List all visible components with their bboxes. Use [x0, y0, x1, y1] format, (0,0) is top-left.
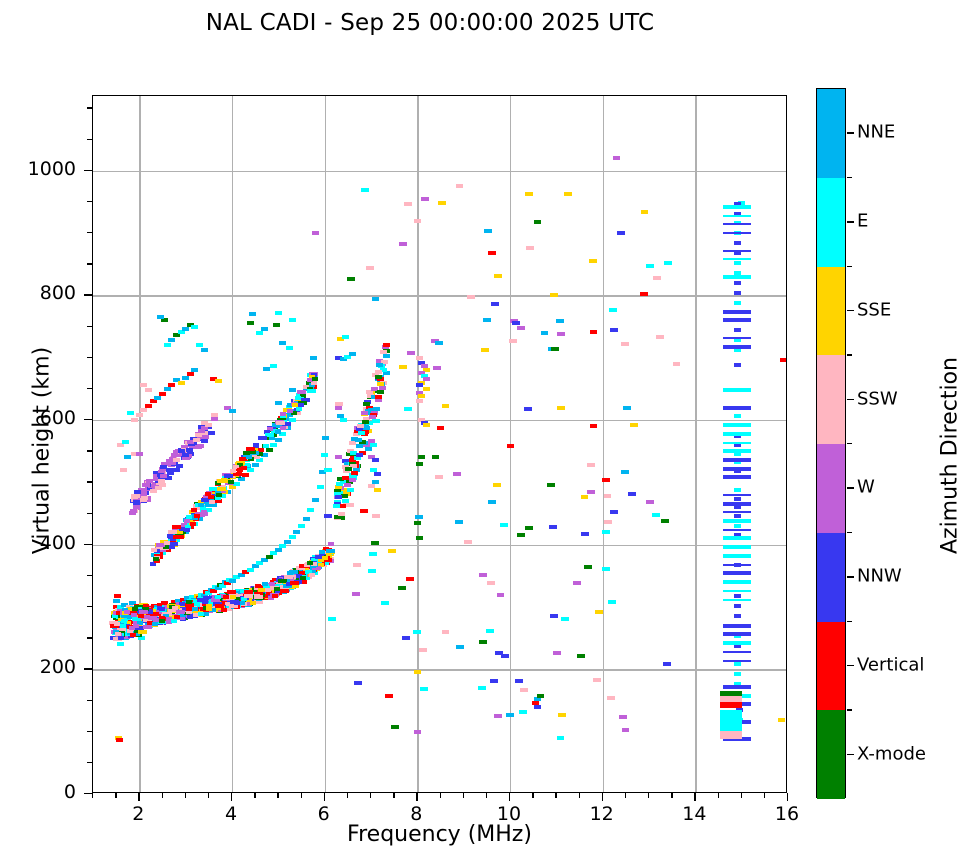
y-tick-minor — [87, 201, 92, 202]
data-point — [421, 197, 429, 201]
data-point — [138, 630, 147, 634]
data-point — [561, 617, 569, 621]
colorbar-tick — [847, 576, 854, 577]
data-point — [276, 421, 285, 425]
data-point — [723, 641, 751, 645]
data-point — [734, 363, 741, 367]
x-tick-major — [694, 793, 695, 801]
data-point — [208, 431, 215, 435]
data-point — [159, 619, 165, 623]
y-tick-major — [84, 294, 92, 295]
data-point — [734, 488, 741, 492]
data-point — [734, 505, 741, 509]
x-tick-minor — [579, 793, 580, 798]
data-point — [205, 423, 212, 427]
colorbar-segment-vertical — [817, 622, 845, 711]
data-point — [209, 500, 215, 504]
data-point — [124, 455, 131, 459]
data-point — [187, 372, 194, 376]
data-point — [622, 728, 629, 732]
data-point — [418, 455, 425, 459]
x-tick-major — [787, 793, 788, 801]
data-point — [371, 541, 379, 545]
gridline-horizontal — [93, 171, 786, 172]
data-point — [734, 338, 741, 342]
x-tick-major — [416, 793, 417, 801]
y-tick-major — [84, 793, 92, 794]
gridline-horizontal — [93, 420, 786, 421]
data-point — [432, 455, 439, 459]
data-point — [250, 601, 256, 605]
data-point — [216, 493, 222, 497]
data-point — [723, 624, 751, 628]
data-point — [437, 426, 444, 430]
colorbar-segment-w — [817, 444, 845, 533]
data-point — [442, 630, 449, 634]
data-point — [646, 500, 654, 504]
data-point — [191, 368, 198, 372]
data-point — [230, 469, 236, 473]
data-point — [587, 463, 595, 467]
data-point — [608, 600, 616, 604]
data-point — [372, 419, 380, 423]
data-point — [113, 599, 120, 603]
data-point — [549, 525, 557, 529]
data-point — [130, 633, 136, 637]
x-tick-minor — [162, 793, 163, 798]
data-point — [734, 348, 741, 352]
data-point — [351, 471, 358, 475]
data-point — [653, 276, 661, 280]
y-tick-minor — [87, 450, 92, 451]
y-tick-label: 200 — [6, 656, 76, 678]
data-point — [478, 686, 486, 690]
data-point — [140, 490, 147, 494]
data-point — [256, 331, 263, 335]
data-point — [182, 376, 189, 380]
gridline-vertical — [139, 96, 140, 792]
data-point — [494, 274, 502, 278]
data-point — [345, 467, 352, 471]
data-point — [723, 685, 751, 689]
data-point — [136, 452, 143, 456]
x-tick-major — [138, 793, 139, 801]
y-tick-minor — [87, 762, 92, 763]
colorbar-boundary-tick — [847, 177, 852, 178]
x-tick-minor — [463, 793, 464, 798]
data-point — [517, 326, 525, 330]
data-point — [723, 571, 751, 575]
data-point — [520, 688, 528, 692]
data-point — [168, 530, 177, 534]
data-point — [255, 584, 261, 588]
data-point — [734, 241, 741, 245]
data-point — [380, 350, 387, 354]
data-point — [720, 734, 742, 740]
data-point — [275, 430, 281, 434]
data-point — [734, 497, 741, 501]
data-point — [734, 662, 741, 666]
data-point — [414, 521, 421, 525]
data-point — [136, 413, 143, 417]
data-point — [173, 535, 179, 539]
data-point — [307, 389, 316, 393]
data-point — [416, 536, 423, 540]
data-point — [723, 423, 751, 427]
data-point — [734, 328, 741, 332]
data-point — [121, 619, 127, 623]
data-point — [723, 502, 751, 506]
data-point — [414, 730, 421, 734]
data-point — [375, 375, 382, 379]
data-point — [270, 364, 277, 368]
data-point — [734, 301, 741, 305]
data-point — [190, 522, 196, 526]
data-point — [723, 275, 751, 279]
data-point — [141, 496, 148, 500]
data-point — [256, 561, 263, 565]
data-point — [435, 475, 443, 479]
colorbar-tick — [847, 754, 854, 755]
data-point — [723, 564, 751, 566]
data-point — [363, 402, 370, 406]
data-point — [377, 382, 384, 386]
data-point — [261, 327, 268, 331]
data-point — [279, 544, 286, 548]
data-point — [280, 589, 289, 593]
data-point — [341, 494, 348, 498]
data-point — [229, 579, 236, 583]
data-point — [734, 514, 741, 518]
data-point — [723, 458, 751, 462]
data-point — [723, 318, 751, 322]
data-point — [557, 736, 564, 740]
data-point — [270, 551, 277, 555]
data-point — [413, 630, 421, 634]
data-point — [326, 549, 335, 553]
data-point — [376, 363, 383, 367]
data-point — [372, 458, 379, 462]
data-point — [172, 525, 181, 529]
data-point — [187, 615, 193, 619]
data-point — [360, 509, 368, 513]
y-tick-minor — [87, 575, 92, 576]
data-point — [646, 264, 654, 268]
data-point — [383, 354, 390, 358]
data-point — [490, 679, 498, 683]
data-point — [370, 443, 377, 447]
colorbar-label-sse: SSE — [857, 299, 891, 320]
x-tick-minor — [115, 793, 116, 798]
data-point — [176, 610, 185, 614]
data-point — [602, 530, 610, 534]
data-point — [211, 417, 218, 421]
data-point — [509, 339, 517, 343]
x-tick-minor — [532, 793, 533, 798]
data-point — [131, 613, 137, 617]
data-point — [280, 412, 286, 416]
data-point — [215, 604, 224, 608]
data-point — [557, 332, 565, 336]
data-point — [273, 323, 280, 327]
data-point — [164, 343, 171, 347]
y-tick-minor — [87, 388, 92, 389]
colorbar-segment-e — [817, 178, 845, 267]
data-point — [613, 156, 620, 160]
data-point — [150, 399, 157, 403]
data-point — [416, 399, 423, 403]
data-point — [623, 406, 631, 410]
gridline-horizontal — [93, 545, 786, 546]
data-point — [363, 426, 370, 430]
y-tick-minor — [87, 232, 92, 233]
data-point — [416, 356, 423, 360]
data-point — [133, 500, 140, 504]
data-point — [723, 545, 751, 549]
data-point — [349, 478, 356, 482]
data-point — [295, 396, 301, 400]
data-point — [279, 341, 286, 345]
data-point — [171, 619, 177, 623]
y-tick-minor — [87, 357, 92, 358]
data-point — [118, 636, 124, 640]
x-tick-minor — [347, 793, 348, 798]
data-point — [723, 519, 751, 523]
y-tick-minor — [87, 637, 92, 638]
x-tick-minor — [277, 793, 278, 798]
data-point — [354, 681, 362, 685]
data-point — [335, 455, 342, 459]
data-point — [161, 318, 168, 322]
data-point — [593, 678, 601, 682]
data-point — [734, 261, 741, 265]
data-point — [155, 486, 162, 490]
data-point — [406, 577, 414, 581]
data-point — [215, 595, 221, 599]
data-point — [550, 293, 558, 297]
data-point — [368, 569, 376, 573]
data-point — [602, 478, 610, 482]
data-point — [372, 297, 379, 301]
x-tick-minor — [440, 793, 441, 798]
data-point — [122, 440, 129, 444]
data-point — [322, 436, 329, 440]
data-point — [263, 367, 270, 371]
data-point — [157, 315, 164, 319]
data-point — [272, 594, 278, 598]
data-point — [517, 533, 525, 537]
data-point — [275, 438, 282, 442]
colorbar-tick — [847, 665, 854, 666]
data-point — [500, 523, 508, 527]
data-point — [491, 302, 499, 306]
y-tick-minor — [87, 481, 92, 482]
data-point — [289, 318, 296, 322]
data-point — [558, 713, 566, 717]
data-point — [239, 601, 245, 605]
data-point — [407, 351, 415, 355]
data-point — [519, 710, 527, 714]
data-point — [328, 617, 336, 621]
data-point — [340, 418, 347, 422]
data-point — [423, 387, 430, 391]
data-point — [723, 554, 751, 558]
data-point — [524, 407, 532, 411]
data-point — [723, 310, 751, 314]
data-point — [230, 595, 236, 599]
data-point — [159, 392, 166, 396]
data-point — [377, 390, 384, 394]
y-tick-minor — [87, 326, 92, 327]
data-point — [553, 651, 561, 655]
x-tick-major — [231, 793, 232, 801]
data-point — [342, 335, 349, 339]
data-point — [246, 455, 252, 459]
data-point — [617, 231, 625, 235]
y-tick-major — [84, 170, 92, 171]
y-tick-minor — [87, 107, 92, 108]
data-point — [372, 514, 380, 518]
data-point — [358, 431, 365, 435]
data-point — [186, 600, 192, 604]
data-point — [723, 580, 751, 584]
data-point — [495, 651, 503, 655]
data-point — [191, 508, 197, 512]
x-tick-minor — [648, 793, 649, 798]
data-point — [385, 694, 393, 698]
data-point — [515, 679, 523, 683]
x-tick-minor — [208, 793, 209, 798]
data-point — [456, 184, 463, 188]
y-tick-minor — [87, 700, 92, 701]
data-point — [602, 567, 610, 571]
y-tick-major — [84, 544, 92, 545]
data-point — [196, 343, 203, 347]
data-point — [628, 492, 636, 496]
data-point — [140, 383, 147, 387]
data-point — [339, 504, 346, 508]
data-point — [336, 482, 343, 486]
data-point — [487, 581, 495, 585]
y-tick-major — [84, 419, 92, 420]
data-point — [423, 423, 430, 427]
data-point — [590, 330, 597, 334]
data-point — [275, 311, 282, 315]
data-point — [290, 581, 299, 585]
data-point — [479, 640, 487, 644]
data-point — [723, 494, 751, 496]
data-point — [641, 210, 648, 214]
data-point — [734, 672, 741, 676]
data-point — [228, 480, 234, 484]
data-point — [186, 607, 192, 611]
data-point — [416, 462, 423, 466]
data-point — [402, 636, 410, 640]
gridline-vertical — [417, 96, 418, 792]
data-point — [723, 651, 751, 653]
data-point — [160, 474, 167, 478]
data-point — [723, 223, 751, 225]
x-tick-minor — [301, 793, 302, 798]
x-tick-major — [509, 793, 510, 801]
data-point — [344, 483, 351, 487]
data-point — [356, 444, 363, 448]
data-point — [145, 388, 152, 392]
data-point — [484, 229, 492, 233]
data-point — [303, 517, 310, 521]
data-point — [483, 318, 491, 322]
data-point — [607, 696, 615, 700]
data-point — [541, 331, 548, 335]
data-point — [171, 453, 178, 457]
x-tick-minor — [370, 793, 371, 798]
data-point — [322, 556, 328, 560]
data-point — [587, 490, 595, 494]
colorbar-segment-nnw — [817, 533, 845, 622]
data-point — [734, 594, 741, 598]
data-point — [604, 494, 611, 498]
data-point — [720, 727, 742, 731]
data-point — [333, 504, 340, 508]
data-point — [247, 321, 254, 325]
data-point — [368, 484, 375, 488]
data-point — [723, 599, 751, 601]
data-point — [129, 626, 135, 630]
data-point — [442, 404, 449, 408]
data-point — [414, 219, 421, 223]
data-point — [140, 408, 147, 412]
data-point — [347, 488, 354, 492]
data-point — [356, 453, 363, 457]
data-point — [656, 335, 664, 339]
data-point — [198, 612, 204, 616]
data-point — [404, 407, 412, 411]
data-point — [734, 251, 741, 255]
data-point — [197, 444, 204, 448]
data-point — [581, 495, 588, 499]
data-point — [349, 441, 356, 445]
data-point — [164, 541, 170, 545]
data-point — [375, 395, 382, 399]
colorbar-label-x-mode: X-mode — [857, 743, 926, 764]
data-point — [404, 202, 412, 206]
gridline-horizontal — [93, 669, 786, 670]
data-point — [347, 277, 355, 281]
data-point — [151, 548, 157, 552]
data-point — [167, 471, 174, 475]
data-point — [723, 250, 751, 252]
y-tick-major — [84, 668, 92, 669]
data-point — [310, 356, 317, 360]
data-point — [319, 550, 325, 554]
data-point — [312, 498, 319, 502]
data-point — [184, 528, 190, 532]
data-point — [734, 414, 741, 418]
data-point — [297, 390, 306, 394]
y-tick-minor — [87, 731, 92, 732]
data-point — [734, 281, 741, 285]
data-point — [723, 215, 751, 217]
data-point — [734, 524, 741, 528]
data-point — [266, 448, 273, 452]
data-point — [780, 358, 786, 362]
data-point — [247, 568, 254, 572]
data-point — [244, 590, 253, 594]
data-point — [663, 662, 671, 666]
data-point — [383, 343, 390, 347]
data-point — [464, 540, 472, 544]
data-point — [286, 346, 293, 350]
